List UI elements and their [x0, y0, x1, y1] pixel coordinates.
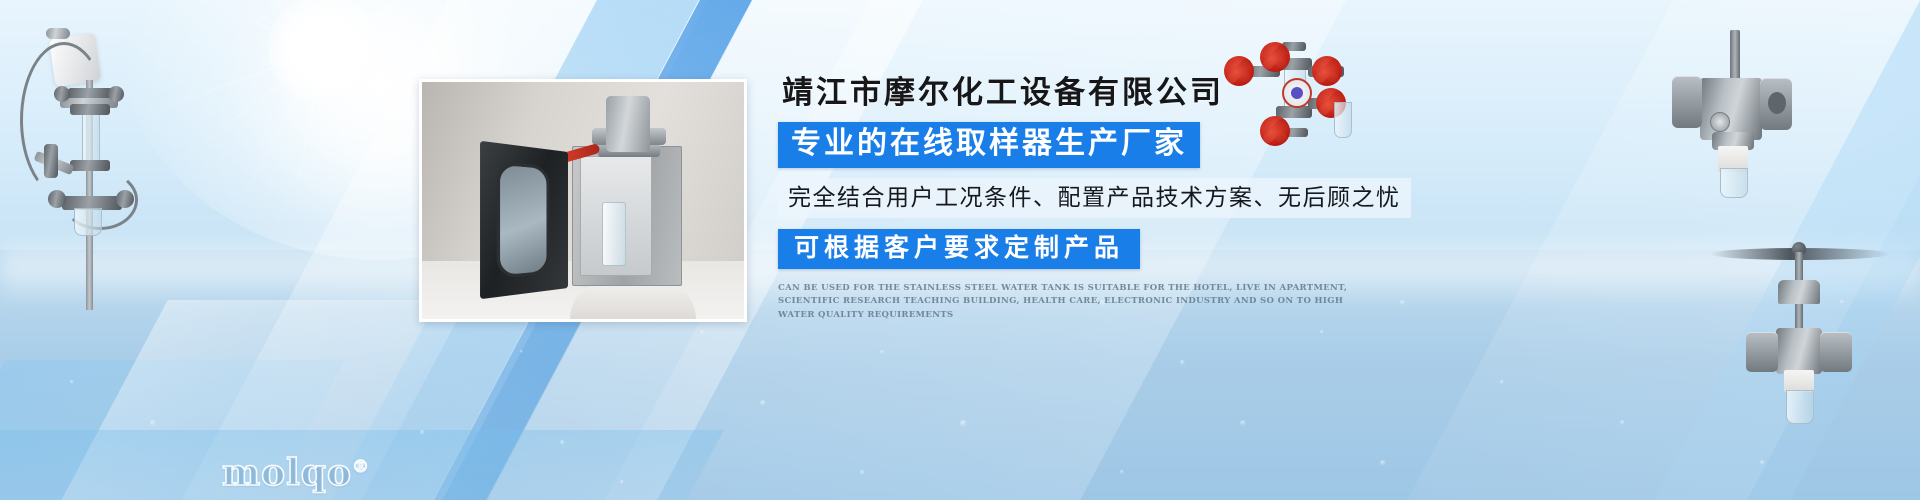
watermark-text: molqo [222, 452, 352, 494]
photo-cabinet-door [480, 141, 568, 299]
english-description: CAN BE USED FOR THE STAINLESS STEEL WATE… [778, 282, 1378, 323]
sun-core-icon [268, 0, 378, 104]
photo-valve-head [606, 96, 650, 152]
registered-mark-icon: ® [352, 457, 370, 477]
bottom-valve-illustration [1740, 240, 1860, 430]
headline-badge: 专业的在线取样器生产厂家 [778, 122, 1200, 168]
banner-text-block: 靖江市摩尔化工设备有限公司 专业的在线取样器生产厂家 完全结合用户工况条件、配置… [778, 76, 1398, 323]
left-equipment-illustration [10, 20, 160, 320]
product-photo [419, 79, 747, 322]
photo-door-window [497, 161, 550, 279]
brand-watermark: molqo® [222, 452, 370, 494]
photo-sample-bottle [602, 202, 626, 266]
tagline-badge: 可根据客户要求定制产品 [778, 229, 1140, 269]
subline-badge: 完全结合用户工况条件、配置产品技术方案、无后顾之忧 [778, 178, 1411, 217]
photo-pedestal [570, 281, 696, 319]
sun-rays [323, 49, 325, 51]
promotional-banner: 靖江市摩尔化工设备有限公司 专业的在线取样器生产厂家 完全结合用户工况条件、配置… [0, 0, 1920, 500]
block-valve-illustration [1672, 30, 1802, 190]
company-name: 靖江市摩尔化工设备有限公司 [782, 76, 1398, 110]
